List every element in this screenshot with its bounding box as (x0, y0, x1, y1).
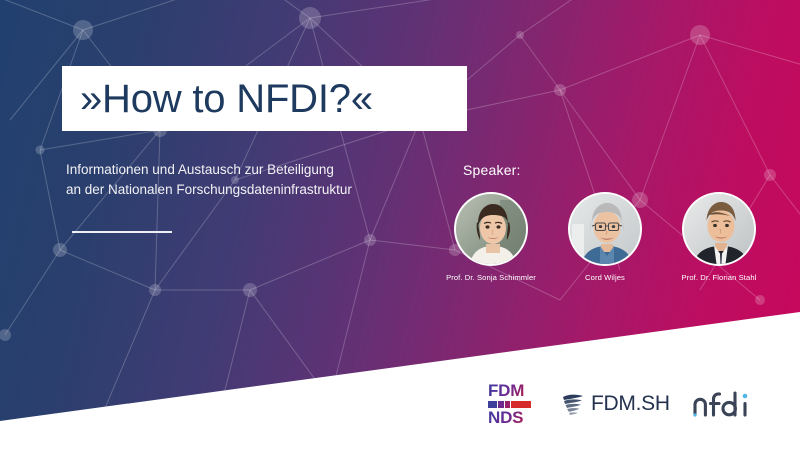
title-banner: »How to NFDI?« (62, 66, 467, 131)
fdm-nds-line-1: FDM (488, 382, 540, 399)
speaker-portrait-florian-stahl (682, 192, 756, 266)
speaker-item: Prof. Dr. Sonja Schimmler (440, 192, 542, 282)
fdm-nds-logo: FDM NDS (488, 382, 540, 426)
fdm-sh-logo: FDM.SH (562, 392, 670, 416)
subtitle-line-2: an der Nationalen Forschungsdateninfrast… (66, 180, 426, 200)
wave-stack-icon (562, 393, 584, 415)
fdm-sh-wordmark: FDM.SH (591, 392, 670, 416)
subtitle-line-1: Informationen und Austausch zur Beteilig… (66, 160, 426, 180)
nfdi-logo (692, 389, 750, 419)
speaker-item: Prof. Dr. Florian Stahl (668, 192, 770, 282)
speaker-name: Prof. Dr. Sonja Schimmler (446, 273, 536, 282)
speaker-item: Cord Wiljes (554, 192, 656, 282)
speaker-list: Prof. Dr. Sonja Schimmler (440, 192, 770, 282)
slide-subtitle: Informationen und Austausch zur Beteilig… (66, 160, 426, 199)
fdm-nds-line-2: NDS (488, 409, 540, 426)
speaker-name: Prof. Dr. Florian Stahl (682, 273, 757, 282)
speaker-portrait-cord-wiljes (568, 192, 642, 266)
slide-title: »How to NFDI?« (62, 79, 373, 119)
presentation-slide: »How to NFDI?« Informationen und Austaus… (0, 0, 800, 450)
speaker-portrait-sonja-schimmler (454, 192, 528, 266)
speaker-name: Cord Wiljes (585, 273, 625, 282)
fdm-nds-bars (488, 401, 540, 408)
speaker-section-label: Speaker: (463, 162, 521, 178)
logo-bar: FDM NDS FDM.SH (488, 382, 750, 426)
subtitle-divider (72, 231, 172, 233)
